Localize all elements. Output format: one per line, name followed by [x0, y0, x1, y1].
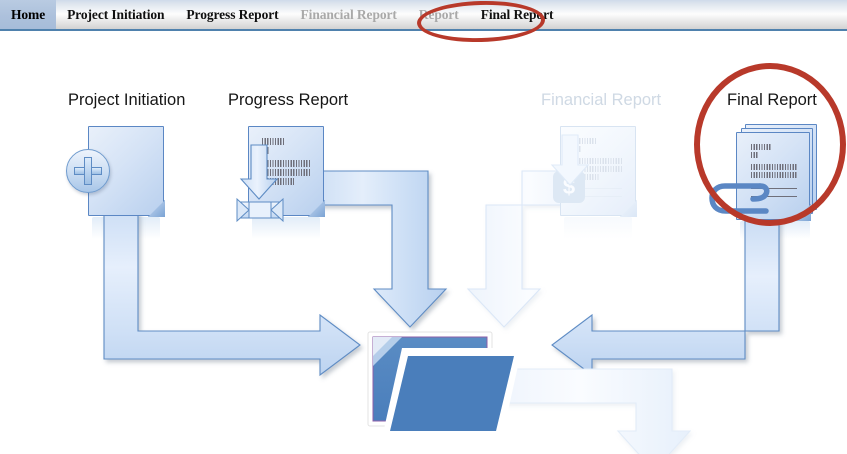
- arrow-final-to-center: [552, 216, 779, 375]
- nav-tab-report[interactable]: Report: [408, 0, 470, 29]
- icon-reflection: [564, 217, 632, 239]
- top-navigation-bar: Home Project Initiation Progress Report …: [0, 0, 847, 31]
- down-arrow-shape: [241, 145, 277, 199]
- nav-tab-progress-report[interactable]: Progress Report: [175, 0, 289, 29]
- ribbon-center: [249, 202, 271, 218]
- plus-bar-vertical: [84, 157, 92, 185]
- text-line: [751, 144, 771, 150]
- app-window: Home Project Initiation Progress Report …: [0, 0, 847, 454]
- arrow-progress-to-center: [318, 171, 446, 327]
- rule-line: [751, 188, 797, 189]
- nav-tab-home[interactable]: Home: [0, 0, 56, 29]
- nav-tab-label: Financial Report: [301, 7, 397, 23]
- nav-tab-label: Final Report: [481, 7, 554, 23]
- workflow-diagram: Project Initiation Progress Report: [0, 31, 847, 454]
- nav-tab-label: Report: [419, 7, 459, 23]
- plus-circle-icon[interactable]: [66, 149, 110, 193]
- icon-reflection: [740, 221, 810, 239]
- slide-stack-icon[interactable]: [360, 326, 530, 451]
- node-label-project-initiation: Project Initiation: [68, 91, 185, 110]
- download-arrow-icon: [548, 131, 596, 193]
- node-label-final-report: Final Report: [727, 91, 817, 110]
- slide-front: [382, 348, 522, 438]
- download-ribbon-icon: [235, 139, 301, 225]
- down-arrow-shape: [552, 135, 588, 185]
- nav-tab-label: Project Initiation: [67, 7, 164, 23]
- text-line: [751, 172, 797, 178]
- document-paperclip-icon[interactable]: [736, 132, 810, 220]
- node-label-financial-report: Financial Report: [541, 91, 661, 110]
- text-line: [751, 164, 797, 170]
- rule-line: [751, 196, 797, 197]
- icon-reflection: [92, 217, 160, 239]
- text-line: [751, 152, 759, 158]
- nav-tab-project-initiation[interactable]: Project Initiation: [56, 0, 175, 29]
- nav-tab-final-report[interactable]: Final Report: [470, 0, 565, 29]
- nav-tab-financial-report[interactable]: Financial Report: [290, 0, 408, 29]
- nav-tab-label: Home: [11, 7, 45, 23]
- node-label-progress-report: Progress Report: [228, 91, 348, 110]
- nav-tab-label: Progress Report: [186, 7, 278, 23]
